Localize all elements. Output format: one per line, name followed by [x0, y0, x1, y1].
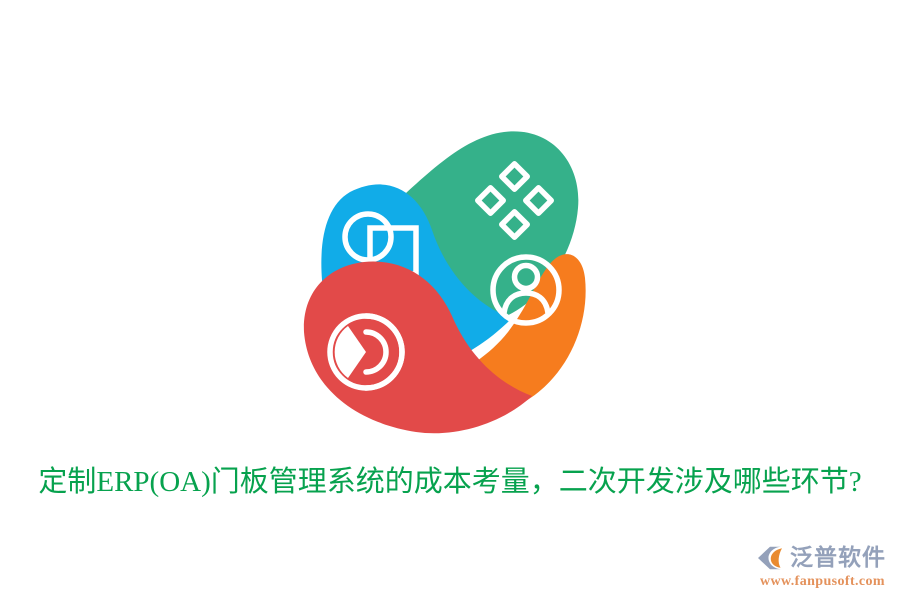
- fanpu-logo-icon: [755, 543, 785, 573]
- watermark-brand-row: 泛普软件: [755, 543, 886, 573]
- watermark: 泛普软件 www.fanpusoft.com: [755, 543, 886, 590]
- page-root: 定制ERP(OA)门板管理系统的成本考量，二次开发涉及哪些环节? 泛普软件 ww…: [0, 0, 900, 600]
- page-title-text: 定制ERP(OA)门板管理系统的成本考量，二次开发涉及哪些环节?: [0, 462, 900, 502]
- watermark-brand-text: 泛普软件: [790, 545, 886, 571]
- page-title: 定制ERP(OA)门板管理系统的成本考量，二次开发涉及哪些环节?: [0, 462, 900, 502]
- watermark-url-text: www.fanpusoft.com: [760, 574, 885, 590]
- four-petal-pinwheel-logo: [290, 120, 600, 440]
